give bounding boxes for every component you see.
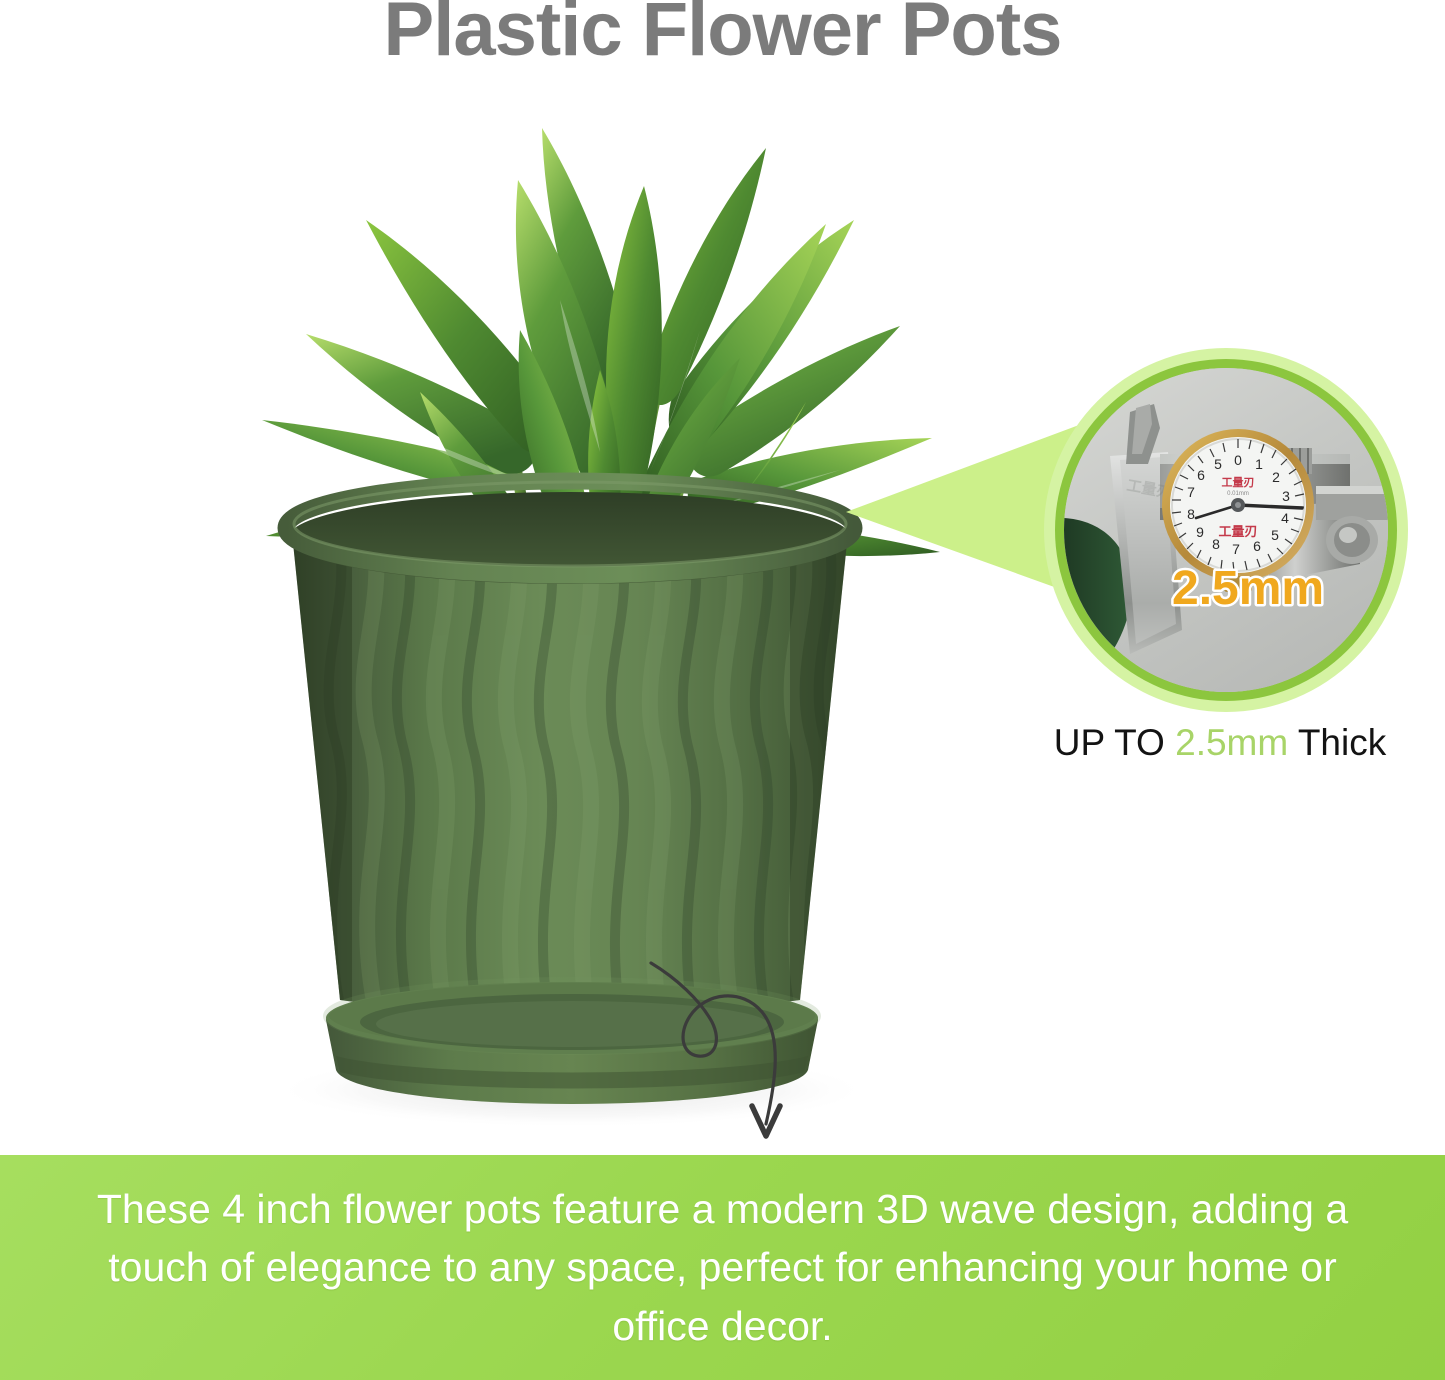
svg-text:7: 7	[1187, 484, 1195, 500]
svg-text:工量刃: 工量刃	[1218, 524, 1257, 539]
svg-text:2.5mm: 2.5mm	[1172, 562, 1324, 615]
svg-text:9: 9	[1196, 524, 1204, 540]
svg-text:工量刃: 工量刃	[1222, 476, 1255, 489]
feature-banner: These 4 inch flower pots feature a moder…	[0, 1155, 1445, 1380]
svg-text:1: 1	[1255, 456, 1263, 472]
feature-banner-text: These 4 inch flower pots feature a moder…	[0, 1180, 1445, 1355]
caption-value: 2.5mm	[1175, 722, 1288, 763]
svg-text:6: 6	[1253, 538, 1261, 554]
svg-text:4: 4	[1281, 510, 1289, 526]
svg-text:5: 5	[1214, 456, 1222, 472]
caliper-dial-icon: 工量刃	[1064, 368, 1388, 692]
svg-text:7: 7	[1232, 541, 1240, 557]
product-infographic: Plastic Flower Pots	[0, 0, 1445, 1380]
svg-text:0: 0	[1234, 452, 1242, 468]
svg-text:0.01mm: 0.01mm	[1227, 491, 1249, 497]
thickness-zoom-circle: 工量刃	[1064, 368, 1388, 692]
thickness-caption: UP TO 2.5mm Thick	[1020, 722, 1420, 764]
svg-text:3: 3	[1282, 488, 1290, 504]
svg-text:8: 8	[1187, 506, 1195, 522]
caption-suffix: Thick	[1288, 722, 1386, 763]
svg-text:6: 6	[1197, 467, 1205, 483]
green-wave-flower-pot	[286, 481, 854, 1040]
svg-text:5: 5	[1271, 527, 1279, 543]
svg-text:2: 2	[1272, 469, 1280, 485]
thickness-badge: 2.5mm	[1172, 562, 1324, 615]
caption-prefix: UP TO	[1054, 722, 1175, 763]
